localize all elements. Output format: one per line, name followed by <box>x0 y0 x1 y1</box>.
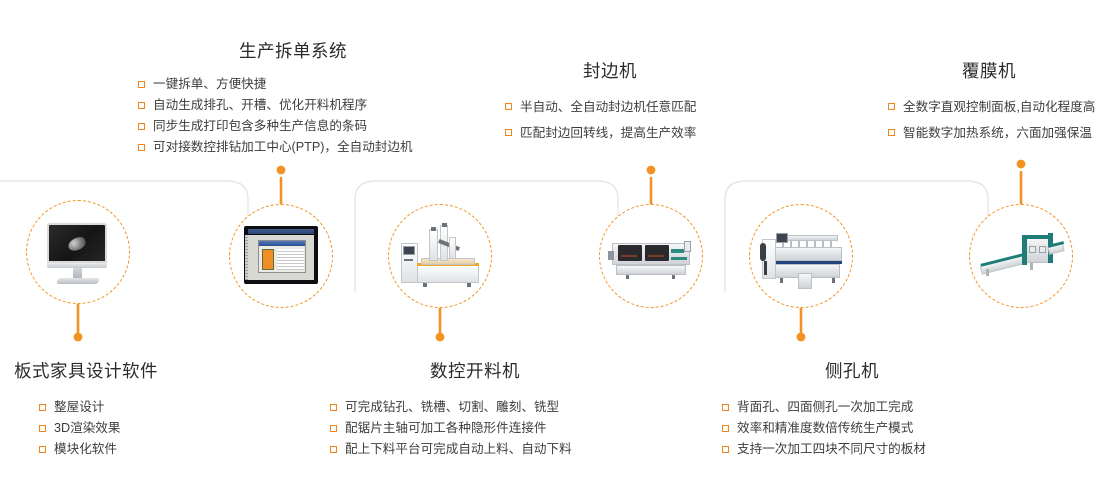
square-bullet-icon <box>39 404 46 411</box>
list-item: 全数字直观控制面板,自动化程度高 <box>888 94 1100 120</box>
list-item-label: 自动生成排孔、开槽、优化开料机程序 <box>153 98 367 112</box>
text-block-side-hole-drilling-machine: 侧孔机 背面孔、四面侧孔一次加工完成 效率和精准度数倍传统生产模式 支持一次加工… <box>722 358 1002 460</box>
side-drilling-machine-icon <box>758 213 844 299</box>
list-item-label: 半自动、全自动封边机任意匹配 <box>520 100 696 114</box>
node-side-driller[interactable] <box>749 204 853 308</box>
square-bullet-icon <box>138 144 145 151</box>
laptop-software-icon <box>238 213 324 299</box>
block-title: 覆膜机 <box>888 58 1100 83</box>
node-laminator[interactable] <box>969 204 1073 308</box>
square-bullet-icon <box>138 102 145 109</box>
infographic-canvas: 生产拆单系统 一键拆单、方便快捷 自动生成排孔、开槽、优化开料机程序 同步生成打… <box>0 0 1100 495</box>
list-item: 一键拆单、方便快捷 <box>138 74 448 95</box>
list-item: 配锯片主轴可加工各种隐形件连接件 <box>330 418 620 439</box>
list-item: 背面孔、四面侧孔一次加工完成 <box>722 397 1002 418</box>
list-item-label: 匹配封边回转线，提高生产效率 <box>520 126 696 140</box>
list-item: 半自动、全自动封边机任意匹配 <box>505 94 745 120</box>
list-item: 模块化软件 <box>39 439 204 460</box>
node-edge-bander[interactable] <box>599 204 703 308</box>
list-item-label: 配上下料平台可完成自动上料、自动下料 <box>345 442 572 456</box>
list-item-label: 效率和精准度数倍传统生产模式 <box>737 421 913 435</box>
square-bullet-icon <box>330 425 337 432</box>
list-item-label: 可完成钻孔、铣槽、切割、雕刻、铣型 <box>345 400 559 414</box>
square-bullet-icon <box>505 103 512 110</box>
block-title: 封边机 <box>505 58 745 83</box>
list-item-label: 整屋设计 <box>54 400 104 414</box>
square-bullet-icon <box>138 81 145 88</box>
list-item-label: 可对接数控排钻加工中心(PTP)，全自动封边机 <box>153 140 413 154</box>
square-bullet-icon <box>138 123 145 130</box>
square-bullet-icon <box>888 103 895 110</box>
block-feature-list: 全数字直观控制面板,自动化程度高 智能数字加热系统，六面加强保温 <box>888 94 1100 146</box>
list-item-label: 一键拆单、方便快捷 <box>153 77 266 91</box>
text-block-panel-furniture-design-software: 板式家具设计软件 整屋设计 3D渲染效果 模块化软件 <box>14 358 204 460</box>
block-feature-list: 背面孔、四面侧孔一次加工完成 效率和精准度数倍传统生产模式 支持一次加工四块不同… <box>722 397 1002 460</box>
block-feature-list: 一键拆单、方便快捷 自动生成排孔、开槽、优化开料机程序 同步生成打印包含多种生产… <box>138 74 448 158</box>
text-block-production-order-splitting-system: 生产拆单系统 一键拆单、方便快捷 自动生成排孔、开槽、优化开料机程序 同步生成打… <box>138 38 448 158</box>
node-order-splitting[interactable] <box>229 204 333 308</box>
square-bullet-icon <box>39 446 46 453</box>
text-block-edge-banding-machine: 封边机 半自动、全自动封边机任意匹配 匹配封边回转线，提高生产效率 <box>505 58 745 146</box>
square-bullet-icon <box>722 404 729 411</box>
list-item: 可完成钻孔、铣槽、切割、雕刻、铣型 <box>330 397 620 418</box>
list-item: 3D渲染效果 <box>39 418 204 439</box>
square-bullet-icon <box>39 425 46 432</box>
block-title: 侧孔机 <box>722 358 1002 383</box>
square-bullet-icon <box>330 404 337 411</box>
text-block-cnc-cutting-machine: 数控开料机 可完成钻孔、铣槽、切割、雕刻、铣型 配锯片主轴可加工各种隐形件连接件… <box>330 358 620 460</box>
list-item-label: 全数字直观控制面板,自动化程度高 <box>903 100 1095 114</box>
list-item: 配上下料平台可完成自动上料、自动下料 <box>330 439 620 460</box>
edge-banding-machine-icon <box>608 213 694 299</box>
cnc-router-machine-icon <box>397 213 483 299</box>
node-design-software[interactable] <box>26 200 130 304</box>
list-item-label: 3D渲染效果 <box>54 421 120 435</box>
block-feature-list: 可完成钻孔、铣槽、切割、雕刻、铣型 配锯片主轴可加工各种隐形件连接件 配上下料平… <box>330 397 620 460</box>
square-bullet-icon <box>722 446 729 453</box>
block-title: 板式家具设计软件 <box>14 358 204 383</box>
list-item: 自动生成排孔、开槽、优化开料机程序 <box>138 95 448 116</box>
square-bullet-icon <box>330 446 337 453</box>
block-title: 数控开料机 <box>330 358 620 383</box>
list-item-label: 配锯片主轴可加工各种隐形件连接件 <box>345 421 547 435</box>
list-item-label: 支持一次加工四块不同尺寸的板材 <box>737 442 926 456</box>
list-item: 智能数字加热系统，六面加强保温 <box>888 120 1100 146</box>
square-bullet-icon <box>888 129 895 136</box>
list-item: 支持一次加工四块不同尺寸的板材 <box>722 439 1002 460</box>
text-block-laminating-machine: 覆膜机 全数字直观控制面板,自动化程度高 智能数字加热系统，六面加强保温 <box>888 58 1100 146</box>
list-item-label: 模块化软件 <box>54 442 117 456</box>
list-item-label: 智能数字加热系统，六面加强保温 <box>903 126 1092 140</box>
list-item: 效率和精准度数倍传统生产模式 <box>722 418 1002 439</box>
imac-monitor-icon <box>35 209 121 295</box>
block-feature-list: 半自动、全自动封边机任意匹配 匹配封边回转线，提高生产效率 <box>505 94 745 146</box>
square-bullet-icon <box>722 425 729 432</box>
list-item: 整屋设计 <box>39 397 204 418</box>
block-title: 生产拆单系统 <box>138 38 448 63</box>
list-item: 匹配封边回转线，提高生产效率 <box>505 120 745 146</box>
block-feature-list: 整屋设计 3D渲染效果 模块化软件 <box>39 397 204 460</box>
list-item-label: 同步生成打印包含多种生产信息的条码 <box>153 119 367 133</box>
laminating-machine-icon <box>978 213 1064 299</box>
node-cnc-router[interactable] <box>388 204 492 308</box>
list-item: 同步生成打印包含多种生产信息的条码 <box>138 116 448 137</box>
square-bullet-icon <box>505 129 512 136</box>
list-item: 可对接数控排钻加工中心(PTP)，全自动封边机 <box>138 137 448 158</box>
list-item-label: 背面孔、四面侧孔一次加工完成 <box>737 400 913 414</box>
